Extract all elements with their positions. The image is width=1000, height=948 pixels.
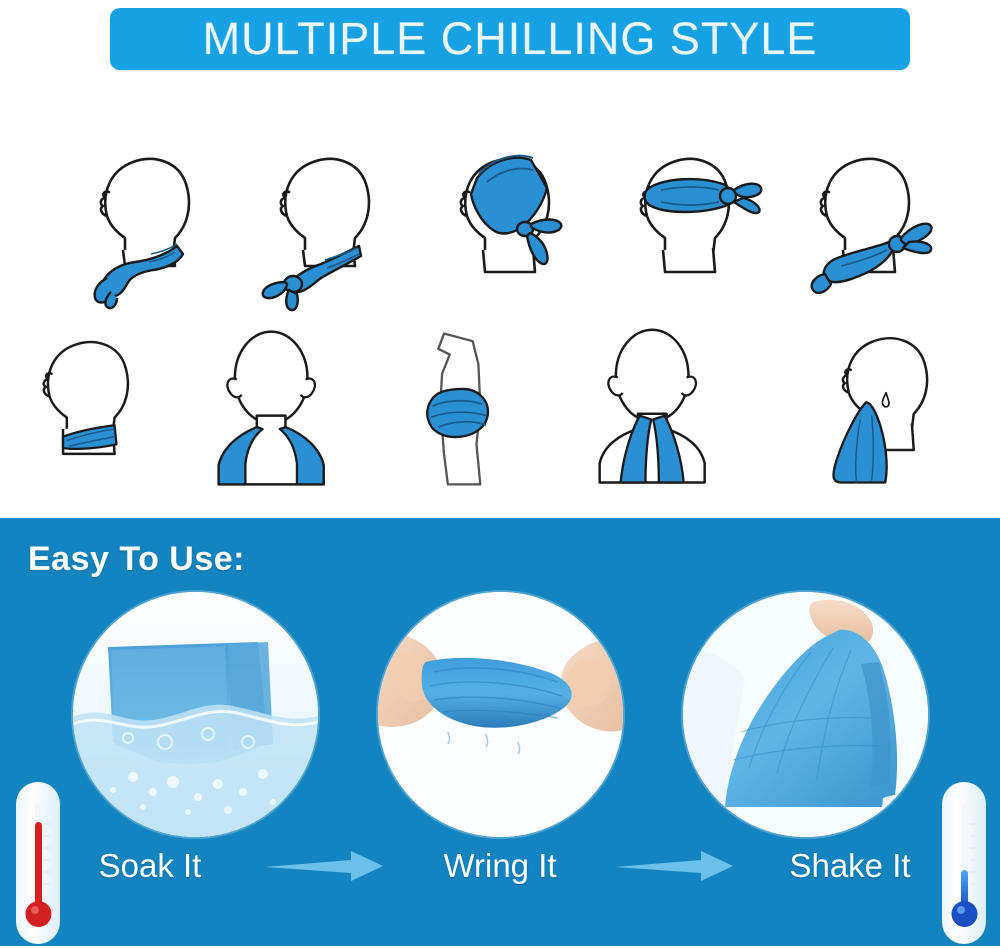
style-neck-scarf-front-knot bbox=[235, 126, 405, 311]
usage-photos bbox=[0, 583, 1000, 845]
easy-to-use-panel: Easy To Use: bbox=[0, 518, 1000, 946]
style-wrist-arm-wrap bbox=[381, 316, 543, 501]
thermometer-hot-icon bbox=[8, 778, 68, 948]
photo-shake-it bbox=[683, 592, 928, 837]
thermometer-cold-icon bbox=[934, 778, 994, 948]
step-label-shake: Shake It bbox=[750, 847, 950, 885]
page-title: MULTIPLE CHILLING STYLE bbox=[203, 13, 818, 65]
style-neck-wrap-knot bbox=[775, 126, 945, 311]
title-banner: MULTIPLE CHILLING STYLE bbox=[110, 8, 910, 70]
style-shoulder-drape bbox=[190, 316, 352, 501]
style-headband-tied-back bbox=[595, 126, 765, 311]
chilling-styles-area bbox=[0, 86, 1000, 506]
photo-soak-it bbox=[73, 592, 318, 837]
step-label-soak: Soak It bbox=[50, 847, 250, 885]
infographic-page: MULTIPLE CHILLING STYLE bbox=[0, 0, 1000, 946]
style-neck-collar-wrap bbox=[0, 316, 162, 501]
usage-steps: Soak It Wring It Shake It bbox=[0, 836, 1000, 896]
style-towel-around-neck bbox=[571, 316, 733, 501]
step-label-wring: Wring It bbox=[400, 847, 600, 885]
easy-to-use-heading: Easy To Use: bbox=[28, 540, 245, 579]
style-neck-scarf-back-knot bbox=[55, 126, 225, 311]
style-face-wipe bbox=[761, 316, 1000, 501]
style-head-wrap-bandana bbox=[415, 126, 585, 311]
arrow-right-icon-1 bbox=[250, 846, 400, 886]
styles-row-2 bbox=[0, 316, 1000, 496]
arrow-right-icon-2 bbox=[600, 846, 750, 886]
styles-row-1 bbox=[0, 126, 1000, 316]
photo-wring-it bbox=[378, 592, 623, 837]
